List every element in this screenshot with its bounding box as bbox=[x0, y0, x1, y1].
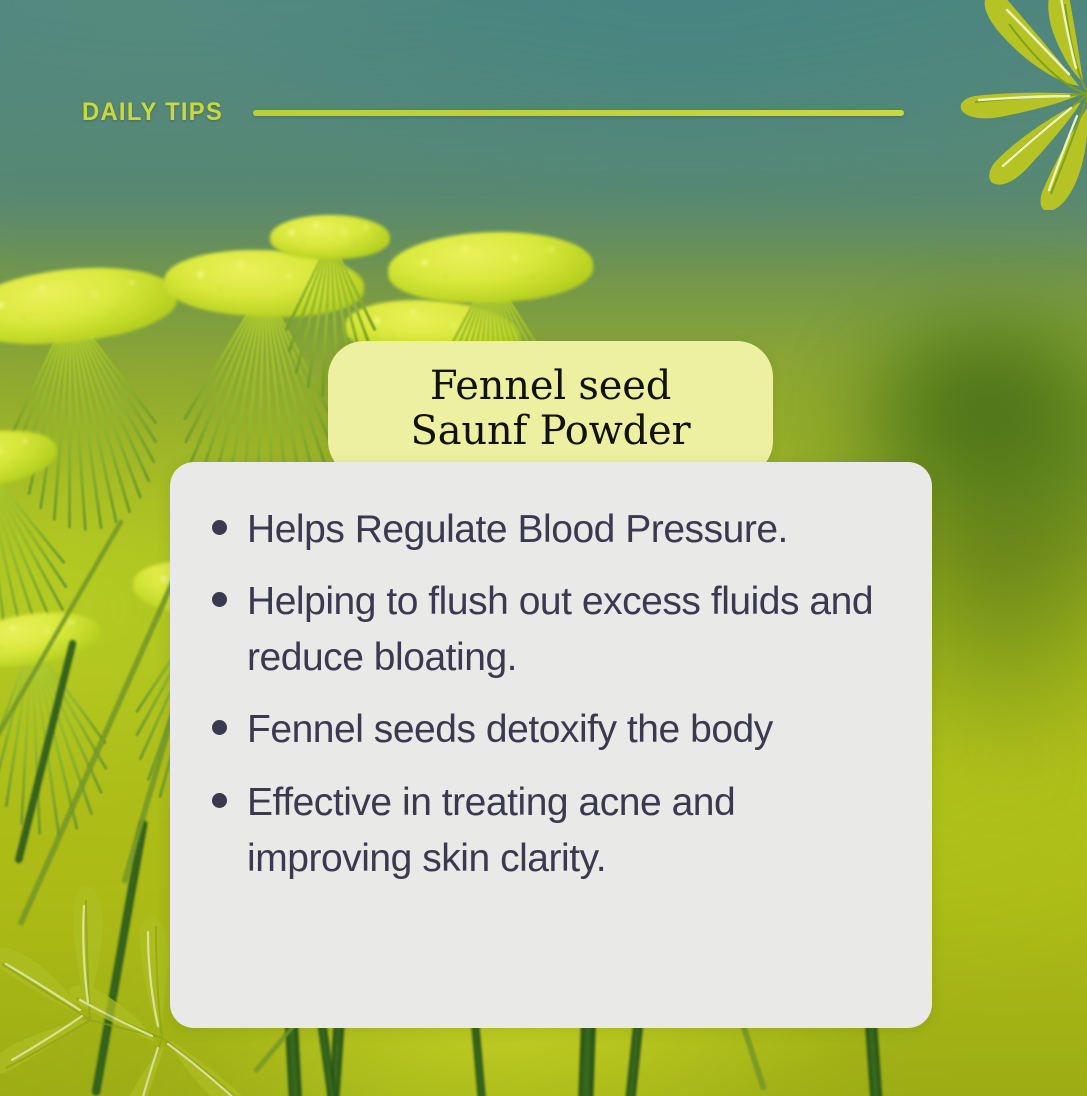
list-item-text: Helping to flush out excess fluids and r… bbox=[247, 574, 902, 686]
content-card: Helps Regulate Blood Pressure.Helping to… bbox=[170, 462, 932, 1028]
list-item: Effective in treating acne and improving… bbox=[212, 775, 902, 887]
title-line-1: Fennel seed bbox=[430, 365, 671, 408]
title-line-2: Saunf Powder bbox=[411, 410, 691, 453]
bullet-dot-icon bbox=[212, 793, 227, 808]
bullet-dot-icon bbox=[212, 720, 227, 735]
list-item-text: Helps Regulate Blood Pressure. bbox=[247, 502, 788, 558]
list-item-text: Fennel seeds detoxify the body bbox=[247, 702, 773, 758]
bullet-dot-icon bbox=[212, 592, 227, 607]
benefits-bullet-list: Helps Regulate Blood Pressure.Helping to… bbox=[212, 502, 902, 887]
bullet-dot-icon bbox=[212, 520, 227, 535]
title-card: Fennel seed Saunf Powder bbox=[328, 341, 773, 477]
header-bar: DAILY TIPS bbox=[82, 98, 904, 127]
poster-canvas: DAILY TIPS Fennel seed Saunf Powder Help… bbox=[0, 0, 1087, 1096]
header-label: DAILY TIPS bbox=[82, 98, 223, 127]
list-item: Helps Regulate Blood Pressure. bbox=[212, 502, 902, 558]
header-divider-rule bbox=[253, 110, 904, 116]
list-item: Fennel seeds detoxify the body bbox=[212, 702, 902, 758]
list-item-text: Effective in treating acne and improving… bbox=[247, 775, 902, 887]
list-item: Helping to flush out excess fluids and r… bbox=[212, 574, 902, 686]
